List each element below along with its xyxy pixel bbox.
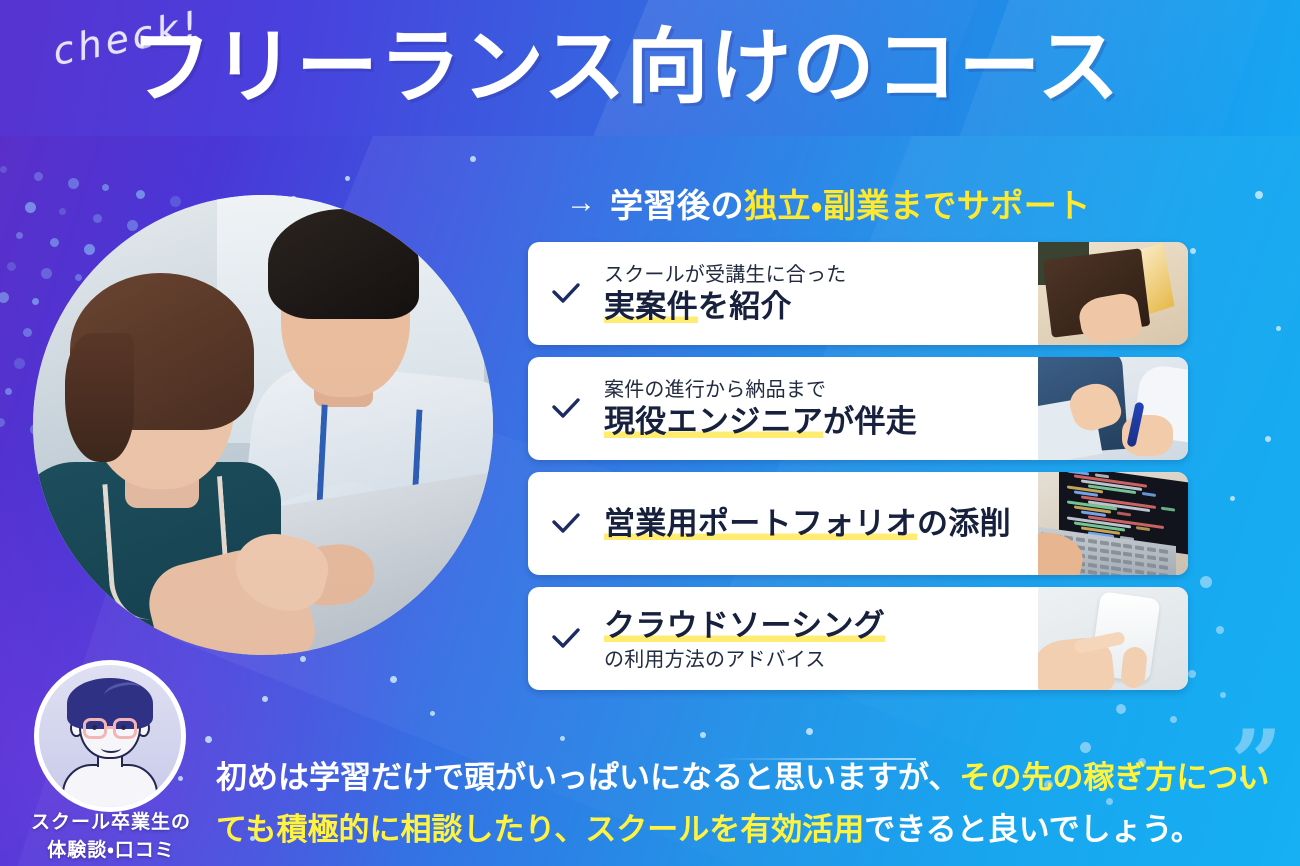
avatar-caption: スクール卒業生の 体験談・口コミ	[26, 808, 196, 864]
benefit-card-list: スクールが受講生に合った 実案件を紹介 案件の進行から納品まで 現役エンジニアが…	[528, 242, 1188, 702]
subtitle: → 学習後の 独立・副業までサポート	[566, 180, 1266, 226]
testimonial-quote: 初めは学習だけで頭がいっぱいになると思いますが、その先の稼ぎ方についても積極的に…	[216, 752, 1296, 856]
card-thumbnail-pen-document	[1038, 357, 1188, 460]
quote-seg-1: 初めは学習だけで頭がいっぱいになると思いますが、	[216, 760, 959, 796]
card-title-rest: が伴走	[823, 404, 917, 440]
testimonial-quote-area: ” 初めは学習だけで頭がいっぱいになると思いますが、その先の稼ぎ方についても積極…	[196, 736, 1300, 866]
infographic-root: check! フリーランス向けのコース	[0, 0, 1300, 866]
card-title-rest: の添削	[917, 506, 1011, 542]
avatar-caption-line1: スクール卒業生の	[26, 808, 196, 836]
quote-seg-2: その先の稼ぎ方に	[959, 760, 1207, 796]
page-title: フリーランス向けのコース	[130, 14, 1120, 122]
quote-seg-4: できると良いでしょう。	[864, 812, 1202, 848]
subtitle-yellow-text: 独立・副業までサポート	[744, 179, 1091, 227]
avatar-caption-line2: 体験談・口コミ	[26, 836, 196, 864]
check-icon	[528, 276, 604, 312]
hero-photo	[33, 195, 493, 655]
check-icon	[528, 506, 604, 542]
card-title-highlight: 実案件	[604, 289, 698, 325]
card-title: 営業用ポートフォリオの添削	[604, 504, 1028, 544]
card-title-highlight: クラウドソーシング	[604, 608, 885, 644]
check-icon	[528, 621, 604, 657]
check-icon	[528, 391, 604, 427]
benefit-card[interactable]: スクールが受講生に合った 実案件を紹介	[528, 242, 1188, 345]
card-title: 現役エンジニアが伴走	[604, 402, 1028, 442]
card-title: クラウドソーシング	[604, 606, 1028, 646]
card-subtext: 案件の進行から納品まで	[604, 376, 1028, 402]
benefit-card[interactable]: 案件の進行から納品まで 現役エンジニアが伴走	[528, 357, 1188, 460]
avatar	[34, 660, 186, 812]
header-banner: check! フリーランス向けのコース	[0, 0, 1300, 136]
subtitle-white-text: 学習後の	[610, 179, 744, 227]
card-thumbnail-smartphone	[1038, 587, 1188, 690]
benefit-card[interactable]: 営業用ポートフォリオの添削	[528, 472, 1188, 575]
card-thumbnail-laptop-code	[1038, 472, 1188, 575]
graduate-avatar-badge: スクール卒業生の 体験談・口コミ	[26, 660, 196, 866]
card-thumbnail-notebook	[1038, 242, 1188, 345]
card-title-highlight: 現役エンジニア	[604, 404, 823, 440]
card-title-highlight: 営業用ポートフォリオ	[604, 506, 917, 542]
card-subtext: スクールが受講生に合った	[604, 261, 1028, 287]
benefit-card[interactable]: クラウドソーシング の利用方法のアドバイス	[528, 587, 1188, 690]
card-title-rest: を紹介	[698, 289, 792, 325]
card-subtext: の利用方法のアドバイス	[604, 646, 1028, 672]
card-title: 実案件を紹介	[604, 287, 1028, 327]
arrow-right-icon: →	[566, 186, 596, 220]
